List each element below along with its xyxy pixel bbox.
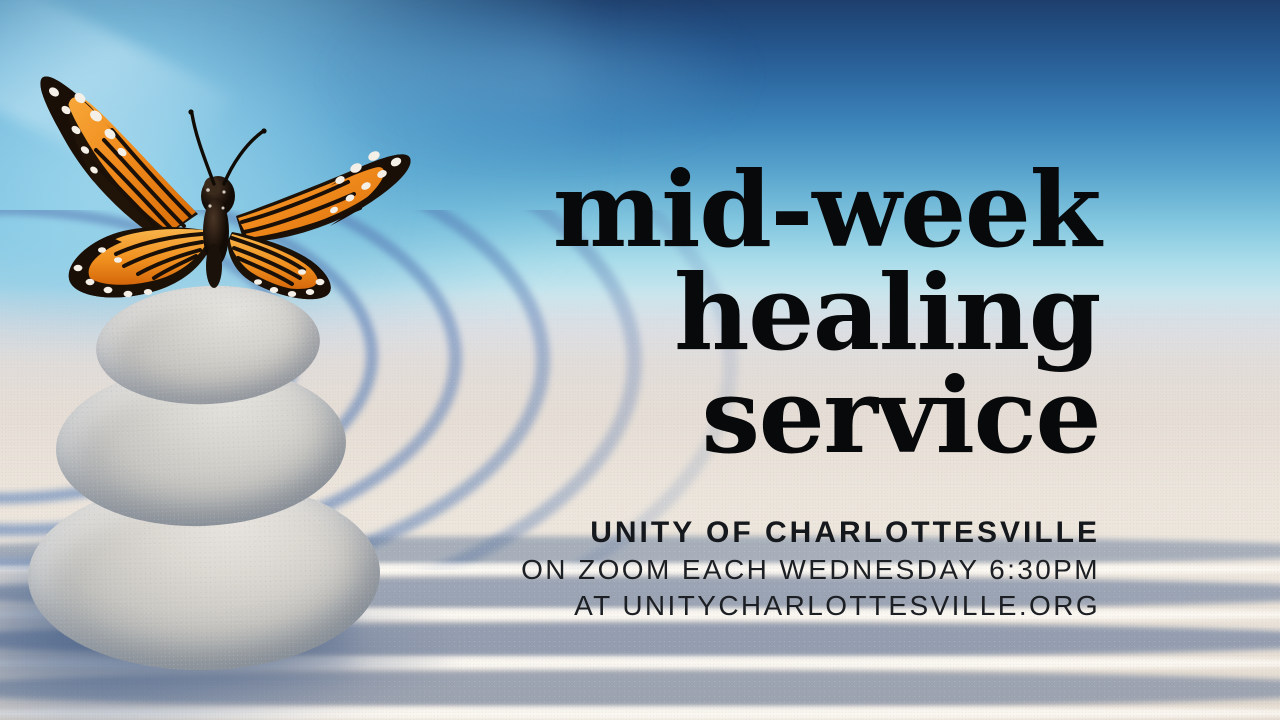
title-line-3: service	[540, 364, 1100, 467]
butterfly-body	[201, 176, 235, 288]
butterfly-antenna-tip-left	[188, 109, 193, 114]
butterfly-antenna-tip-right	[261, 128, 266, 133]
monarch-butterfly-icon	[18, 44, 418, 324]
poster-title-block: mid-week healing service	[540, 158, 1100, 467]
organization-name: UNITY OF CHARLOTTESVILLE	[480, 514, 1100, 552]
website-text: AT UNITYCHARLOTTESVILLE.ORG	[480, 588, 1100, 624]
title-line-2: healing	[540, 261, 1100, 364]
butterfly-antennae	[192, 114, 262, 184]
butterfly-right-forewing	[236, 149, 411, 242]
poster-subtitle-block: UNITY OF CHARLOTTESVILLE ON ZOOM EACH WE…	[480, 514, 1100, 624]
poster-canvas: mid-week healing service UNITY OF CHARLO…	[0, 0, 1280, 720]
title-line-1: mid-week	[540, 158, 1100, 261]
page-title: mid-week healing service	[540, 158, 1100, 467]
butterfly-left-forewing	[40, 76, 198, 240]
schedule-text: ON ZOOM EACH WEDNESDAY 6:30PM	[480, 552, 1100, 588]
butterfly-left-hindwing	[69, 227, 210, 298]
butterfly-right-hindwing	[228, 232, 331, 299]
